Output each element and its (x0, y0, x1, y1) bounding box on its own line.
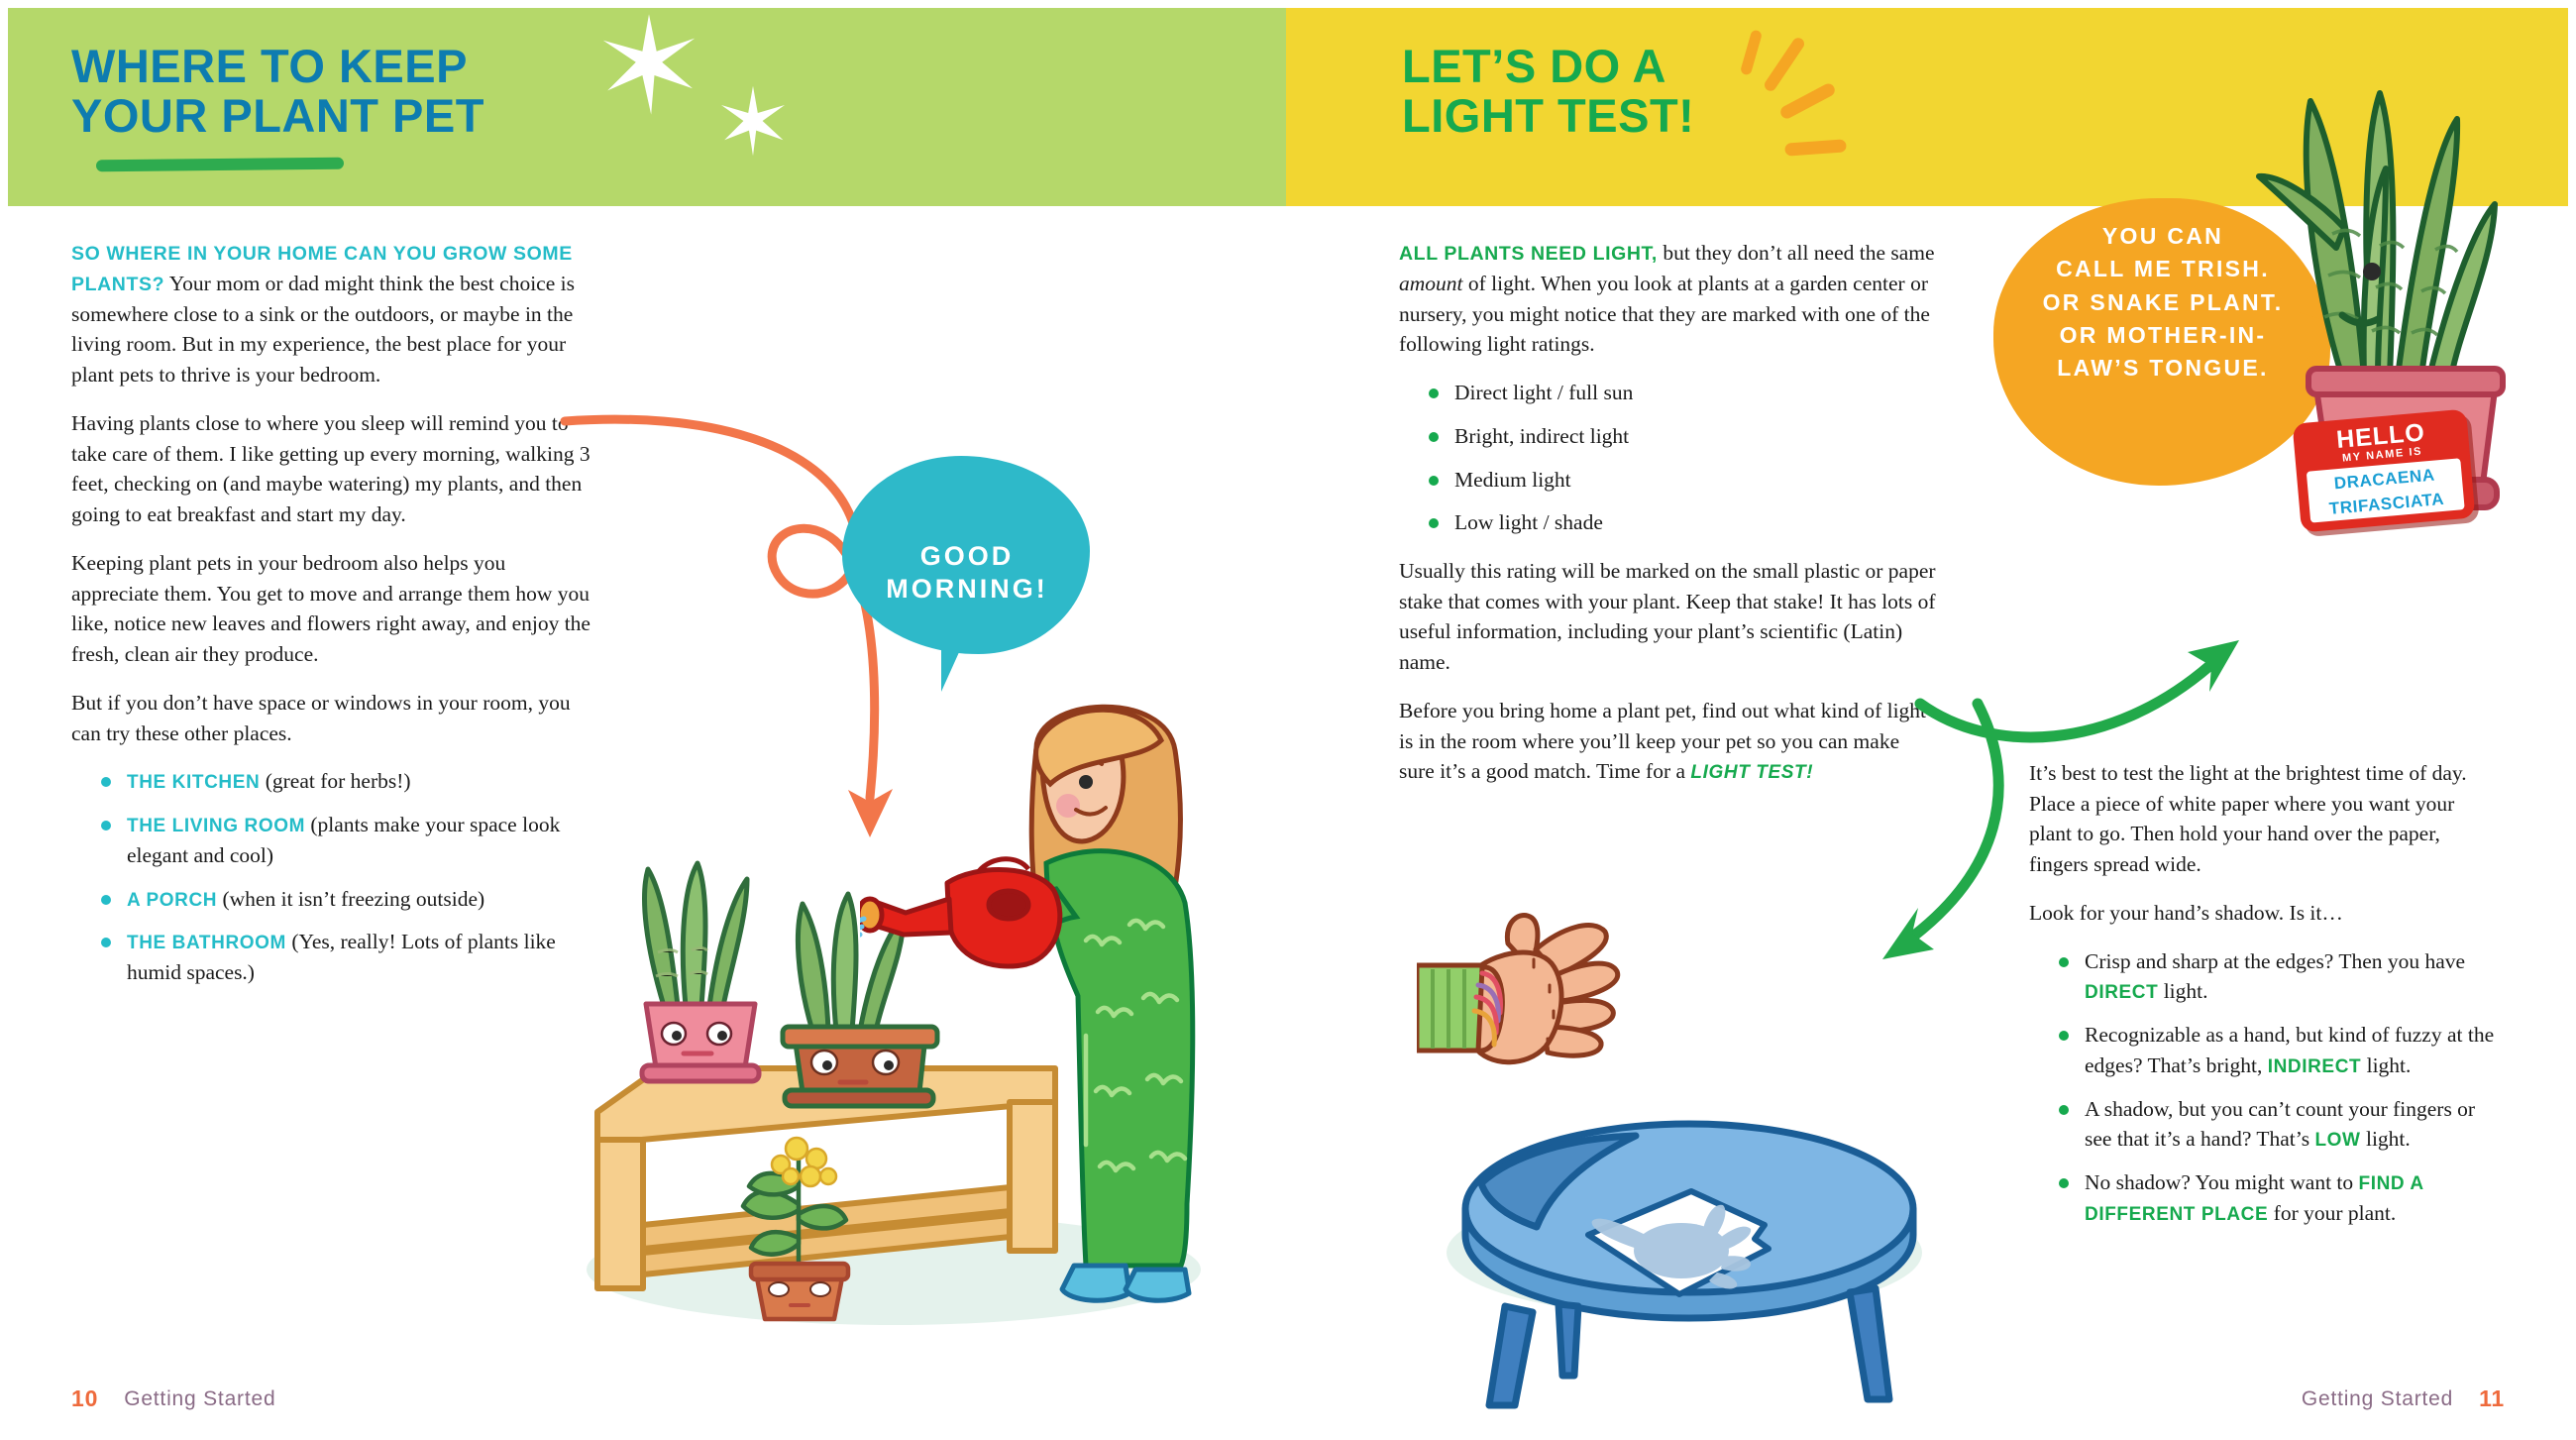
left-body-column: SO WHERE IN YOUR HOME CAN YOU GROW SOME … (71, 238, 596, 1006)
list-item: THE BATHROOM (Yes, really! Lots of plant… (101, 927, 596, 987)
list-item: THE LIVING ROOM (plants make your space … (101, 810, 596, 870)
shadow-post: light. (2361, 1053, 2411, 1077)
shadow-keyword: LOW (2314, 1130, 2360, 1151)
right-page-number: 11 (2479, 1385, 2505, 1412)
shadow-results-list: Crisp and sharp at the edges? Then you h… (2029, 946, 2495, 1229)
list-item: Low light / shade (1429, 507, 1939, 538)
green-arrow-to-table (1801, 694, 2039, 1031)
place-keyword: A PORCH (127, 890, 217, 911)
stake-paragraph: Usually this rating will be marked on th… (1399, 556, 1939, 678)
right-page-title: LET’S DO A LIGHT TEST! (1402, 42, 1694, 141)
left-footer-section: Getting Started (124, 1387, 275, 1411)
look-for-shadow-paragraph: Look for your hand’s shadow. Is it… (2029, 898, 2495, 929)
shadow-pre: A shadow, but you can’t count your finge… (2085, 1097, 2475, 1152)
shadow-keyword: DIRECT (2085, 982, 2158, 1003)
list-item: THE KITCHEN (great for herbs!) (101, 766, 596, 797)
place-keyword: THE KITCHEN (127, 772, 260, 793)
left-page-footer: 10 Getting Started (71, 1385, 275, 1412)
shadow-post: light. (2361, 1127, 2411, 1151)
left-paragraph-4: But if you don’t have space or windows i… (71, 688, 596, 748)
list-item: A shadow, but you can’t count your finge… (2059, 1094, 2495, 1155)
good-morning-text: GOOD MORNING! (854, 540, 1080, 606)
list-item: Medium light (1429, 465, 1939, 496)
right-lead-rest-a: but they don’t all need the same (1658, 241, 1935, 265)
right-lead-phrase: ALL PLANTS NEED LIGHT, (1399, 243, 1658, 265)
list-item: Bright, indirect light (1429, 421, 1939, 452)
girl-watering-plants-illustration (991, 679, 1229, 1313)
shadow-pre: Crisp and sharp at the edges? Then you h… (2085, 949, 2465, 973)
shadow-post: light. (2158, 979, 2207, 1003)
list-item: No shadow? You might want to FIND A DIFF… (2059, 1167, 2495, 1228)
list-item: A PORCH (when it isn’t freezing outside) (101, 884, 596, 915)
book-spread: WHERE TO KEEP YOUR PLANT PET LET’S DO A … (0, 0, 2576, 1440)
left-paragraph-3: Keeping plant pets in your bedroom also … (71, 548, 596, 670)
place-detail: (when it isn’t freezing outside) (217, 887, 484, 911)
blue-table-with-paper-illustration (1442, 1118, 1957, 1415)
left-page-title: WHERE TO KEEP YOUR PLANT PET (71, 42, 484, 141)
hand-with-spread-fingers-illustration (1417, 902, 1744, 1120)
place-keyword: THE LIVING ROOM (127, 816, 305, 836)
sparkle-star-large-icon (594, 10, 703, 119)
place-keyword: THE BATHROOM (127, 933, 286, 953)
sparkle-star-small-icon (713, 81, 793, 161)
right-lead-paragraph: ALL PLANTS NEED LIGHT, but they don’t al… (1399, 238, 1939, 360)
right-lead-italic: amount (1399, 272, 1463, 295)
test-light-paragraph: It’s best to test the light at the brigh… (2029, 758, 2495, 880)
light-test-keyword: LIGHT TEST! (1690, 762, 1813, 783)
right-lead-rest-b: of light. When you look at plants at a g… (1399, 272, 1930, 356)
right-page-footer: Getting Started 11 (2302, 1385, 2505, 1412)
shadow-keyword: INDIRECT (2268, 1056, 2362, 1077)
list-item: Crisp and sharp at the edges? Then you h… (2059, 946, 2495, 1007)
speech-bubble-tail (941, 630, 979, 692)
shadow-post: for your plant. (2268, 1201, 2396, 1225)
flowering-plant-under-table (711, 1115, 890, 1328)
right-footer-section: Getting Started (2302, 1387, 2453, 1411)
place-detail: (great for herbs!) (260, 769, 410, 793)
shadow-pre: No shadow? You might want to (2085, 1170, 2359, 1194)
list-item: Recognizable as a hand, but kind of fuzz… (2059, 1020, 2495, 1080)
left-page-number: 10 (71, 1385, 98, 1412)
plant-eye (2363, 263, 2381, 280)
hello-my-name-is-tag: HELLO MY NAME IS DRACAENA TRIFASCIATA (2293, 409, 2476, 533)
red-watering-can (860, 847, 1078, 986)
left-lead-paragraph: SO WHERE IN YOUR HOME CAN YOU GROW SOME … (71, 238, 596, 390)
right-body-column-2: It’s best to test the light at the brigh… (2029, 758, 2495, 1247)
left-paragraph-2: Having plants close to where you sleep w… (71, 408, 596, 530)
list-item: Direct light / full sun (1429, 378, 1939, 408)
other-places-list: THE KITCHEN (great for herbs!) THE LIVIN… (71, 766, 596, 987)
light-ratings-list: Direct light / full sun Bright, indirect… (1399, 378, 1939, 538)
